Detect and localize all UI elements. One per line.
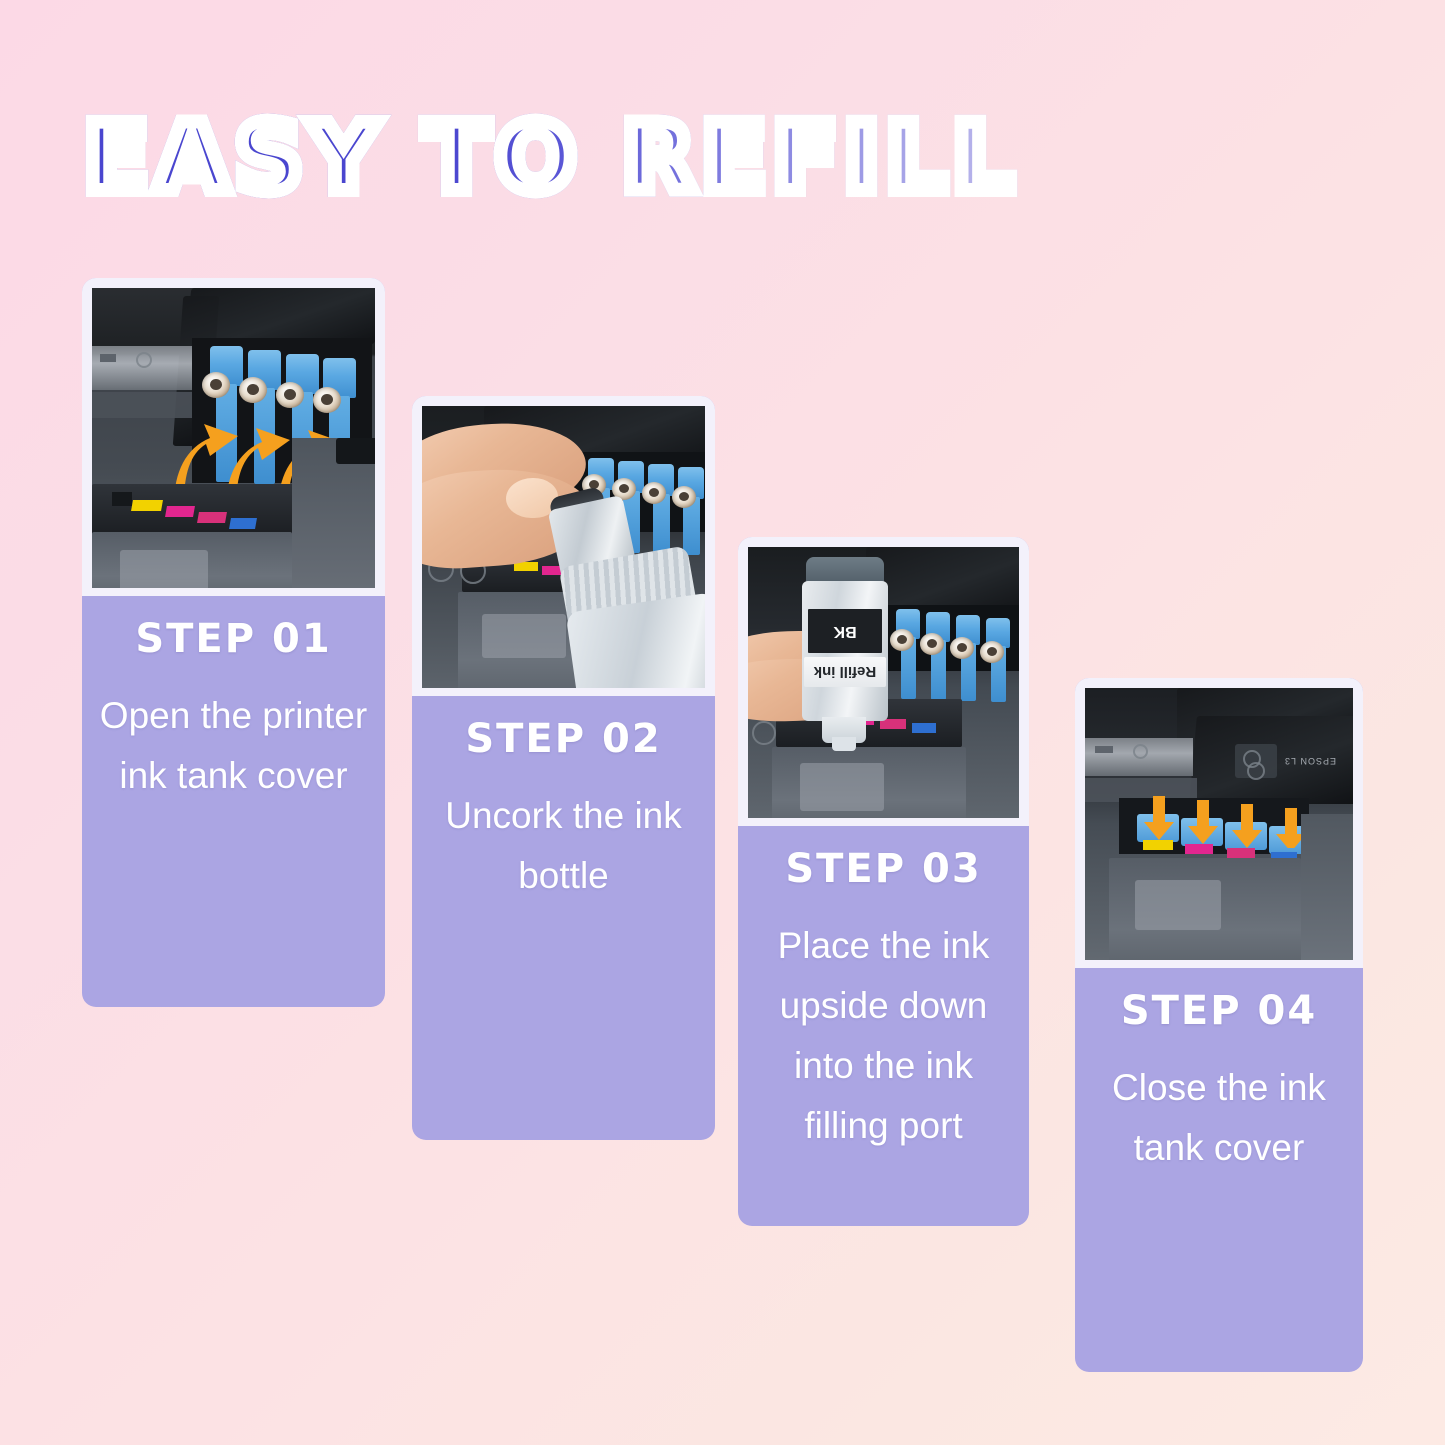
step-card-3: BK Refill ink STEP 03 Place the ink upsi…	[738, 537, 1029, 1226]
step-photo-frame-2	[412, 396, 715, 696]
bottle-label-bk-text: BK	[808, 609, 882, 653]
step-label-2: STEP 02	[426, 718, 701, 760]
step-photo-frame-3: BK Refill ink	[738, 537, 1029, 826]
step-photo-4: EPSON L3	[1085, 688, 1353, 960]
page-title: EASY TO REFILL	[84, 104, 1084, 214]
step-card-2: STEP 02 Uncork the ink bottle	[412, 396, 715, 1140]
printer-model-text: EPSON L3	[1281, 748, 1339, 774]
printer-button-icon	[752, 721, 776, 745]
step-description-4: Close the ink tank cover	[1089, 1058, 1349, 1178]
step-photo-3: BK Refill ink	[748, 547, 1019, 818]
step-card-4: EPSON L3	[1075, 678, 1363, 1372]
step-description-1: Open the printer ink tank cover	[96, 686, 371, 806]
step-photo-2	[422, 406, 705, 688]
step-label-1: STEP 01	[96, 618, 371, 660]
step-description-3: Place the ink upside down into the ink f…	[752, 916, 1015, 1156]
step-photo-frame-1	[82, 278, 385, 596]
step-label-4: STEP 04	[1089, 990, 1349, 1032]
bottle-label-refill-text: Refill ink	[804, 657, 886, 687]
page-title-container: EASY TO REFILL	[84, 104, 1084, 214]
step-body-2: STEP 02 Uncork the ink bottle	[412, 696, 715, 1140]
step-body-4: STEP 04 Close the ink tank cover	[1075, 968, 1363, 1372]
step-photo-frame-4: EPSON L3	[1075, 678, 1363, 968]
step-body-3: STEP 03 Place the ink upside down into t…	[738, 826, 1029, 1226]
step-description-2: Uncork the ink bottle	[426, 786, 701, 906]
step-label-3: STEP 03	[752, 848, 1015, 890]
step-card-1: STEP 01 Open the printer ink tank cover	[82, 278, 385, 1007]
step-photo-1	[92, 288, 375, 588]
step-body-1: STEP 01 Open the printer ink tank cover	[82, 596, 385, 1007]
arrow-down-icon	[1129, 788, 1319, 848]
